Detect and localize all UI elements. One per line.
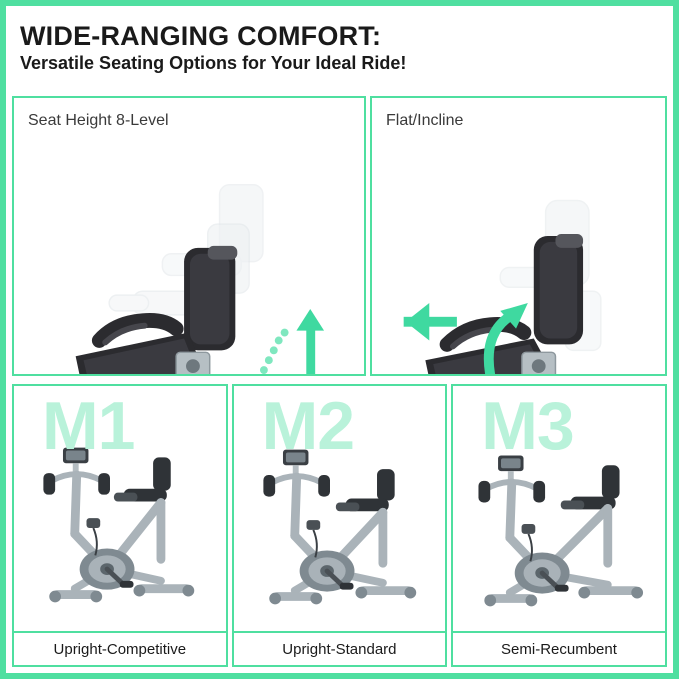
flywheel-icon (80, 549, 135, 590)
seat-backrest-icon (184, 246, 237, 350)
panel-mode-m3: M3 (451, 384, 667, 667)
mode-badge-m3: M3 (481, 392, 573, 460)
caption-m2: Upright-Standard (234, 631, 446, 665)
panel-mode-m2: M2 (232, 384, 448, 667)
seat-backrest-icon (534, 234, 583, 344)
seat-icon (335, 469, 394, 511)
panel-mode-m1: M1 (12, 384, 228, 667)
page-title: WIDE-RANGING COMFORT: (20, 22, 673, 50)
seat-icon (561, 465, 620, 509)
caption-m3: Semi-Recumbent (453, 631, 665, 665)
product-infographic: WIDE-RANGING COMFORT: Versatile Seating … (0, 0, 679, 679)
panel-seat-height: Seat Height 8-Level (12, 96, 366, 376)
panel-flat-incline-label: Flat/Incline (386, 112, 463, 130)
mode-badge-m2: M2 (262, 392, 354, 460)
flywheel-icon (299, 550, 354, 591)
top-panel-group: Seat Height 8-Level (12, 96, 667, 376)
header: WIDE-RANGING COMFORT: Versatile Seating … (6, 6, 673, 90)
mode-badge-m1: M1 (42, 392, 134, 460)
seat-height-illustration (14, 98, 364, 374)
level-steps-icon (235, 329, 288, 374)
double-arrow-vertical-icon (296, 309, 324, 374)
flywheel-icon (515, 552, 570, 593)
page-subtitle: Versatile Seating Options for Your Ideal… (20, 54, 673, 73)
panel-seat-height-label: Seat Height 8-Level (28, 112, 169, 130)
panel-flat-incline: Flat/Incline (370, 96, 667, 376)
caption-m1: Upright-Competitive (14, 631, 226, 665)
flat-incline-illustration (372, 98, 665, 374)
bottom-panel-group: M1 (12, 384, 667, 667)
seat-icon (114, 457, 171, 501)
